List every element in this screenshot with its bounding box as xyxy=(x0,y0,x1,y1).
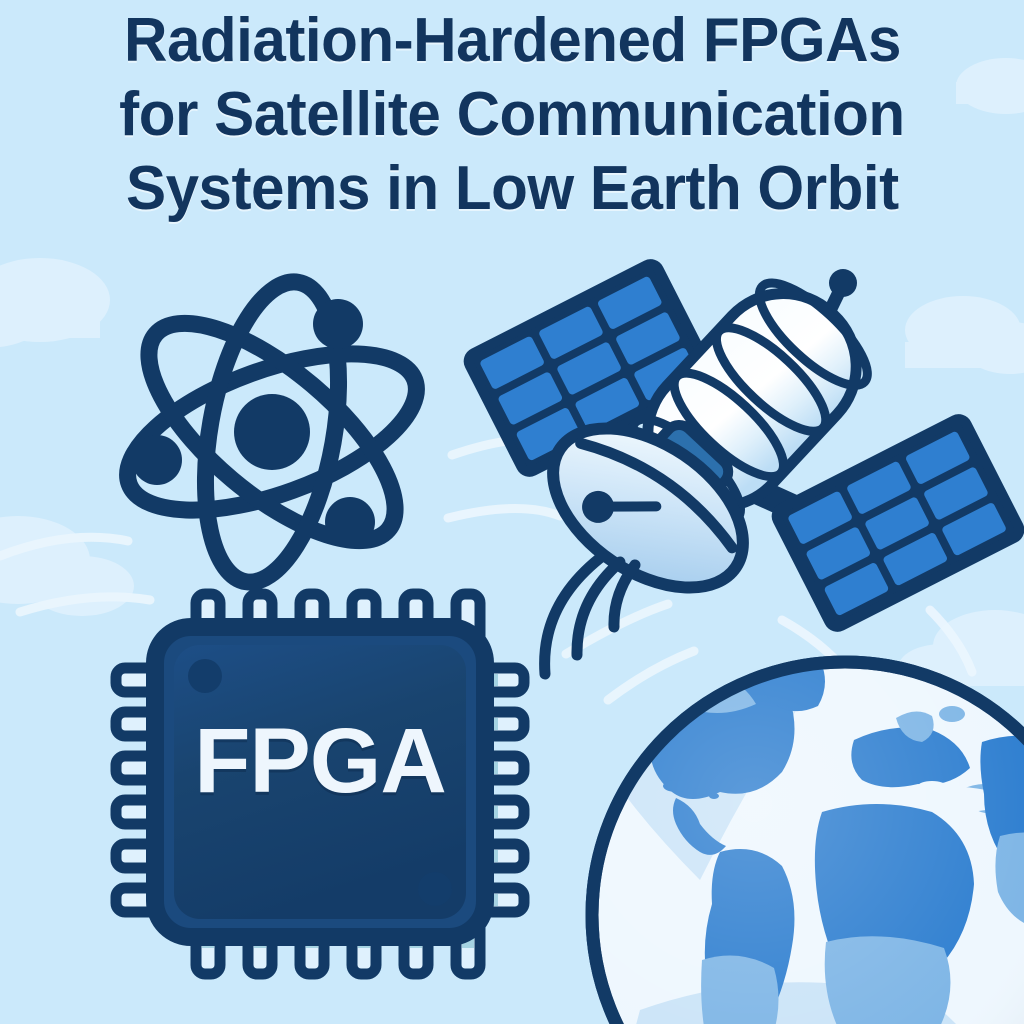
background-layer xyxy=(0,0,1024,1024)
atom-nucleus xyxy=(234,394,310,470)
chip-corner-dot xyxy=(188,659,222,693)
signal-waves-group xyxy=(545,558,635,674)
fpga-chip-illustration xyxy=(116,594,524,974)
atom-electron xyxy=(325,497,375,547)
cloud-icon xyxy=(905,296,1024,374)
cloud-icon xyxy=(956,58,1024,114)
atom-electron xyxy=(132,435,182,485)
atom-electron xyxy=(313,299,363,349)
cloud-icon xyxy=(0,258,110,348)
antenna-tip-dot xyxy=(829,269,857,297)
earth-globe-illustration xyxy=(592,649,1024,1024)
chip-corner-dot xyxy=(418,872,452,906)
poster-canvas: Radiation-Hardened FPGAs for Satellite C… xyxy=(0,0,1024,1024)
atom-illustration xyxy=(108,272,436,593)
